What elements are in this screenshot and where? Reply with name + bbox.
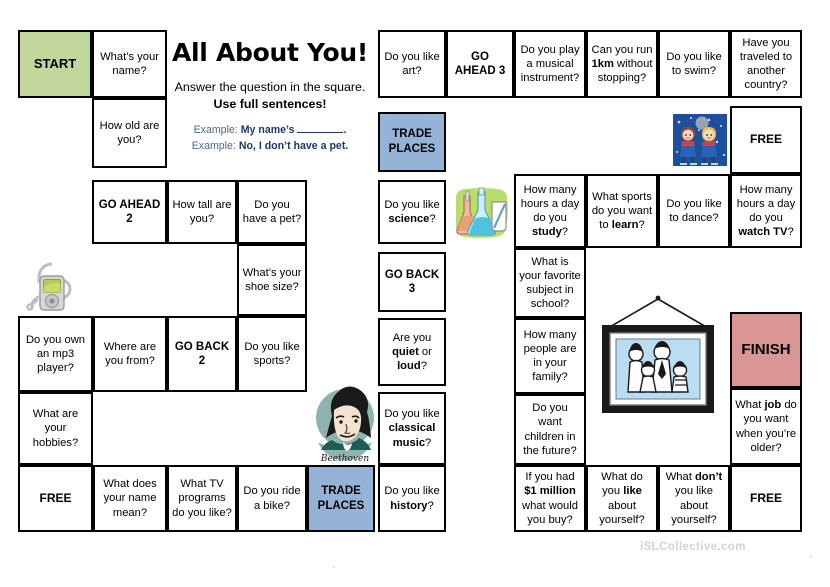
cell-children-in-future[interactable]: Do you want children in the future? (514, 394, 586, 465)
cell-like-to-swim[interactable]: Do you like to swim? (658, 30, 730, 98)
cell-one-million[interactable]: If you had $1 million what would you buy… (514, 465, 586, 532)
cell-like-to-dance[interactable]: Do you like to dance? (658, 174, 730, 248)
cell-quiet-or-loud[interactable]: Are you quiet or loud? (378, 318, 446, 386)
cell-favorite-subject[interactable]: What is your favorite subject in school? (514, 248, 586, 318)
ice-skating-children-image (669, 110, 731, 172)
mp3-player-icon (22, 254, 84, 316)
page-title: All About You! (172, 38, 368, 67)
cell-do-you-like-sports[interactable]: Do you like sports? (237, 316, 307, 392)
svg-text:Beethoven: Beethoven (320, 454, 370, 464)
site-watermark: iSLCollective.com (640, 541, 746, 553)
cell-trade-places-bottom[interactable]: TRADE PLACES (307, 465, 375, 532)
cell-classical-music[interactable]: Do you like classical music? (378, 392, 446, 465)
instructions-bold: Use full sentences! (214, 97, 327, 111)
cell-dont-like-about-yourself[interactable]: What don’t you like about yourself? (658, 465, 730, 532)
cell-mp3-player[interactable]: Do you own an mp3 player? (18, 316, 93, 392)
cell-run-1km[interactable]: Can you run 1km without stopping? (586, 30, 658, 98)
cell-free-bottom-left[interactable]: FREE (18, 465, 93, 532)
cell-whats-your-name[interactable]: What’s your name? (92, 30, 167, 98)
cell-free-bottom-right[interactable]: FREE (730, 465, 802, 532)
cell-what-job[interactable]: What job do you want when you’re older? (730, 388, 802, 465)
family-photo-frame-image (592, 292, 724, 420)
cell-hobbies[interactable]: What are your hobbies? (18, 392, 93, 465)
cell-start[interactable]: START (18, 30, 92, 98)
watermark-dot-2 (333, 566, 335, 568)
cell-sports-to-learn[interactable]: What sports do you want to learn? (586, 174, 658, 248)
example-line-2: Example: No, I don’t have a pet. (170, 139, 370, 154)
cell-do-you-like-science[interactable]: Do you like science? (378, 180, 446, 244)
beethoven-portrait: Beethoven (312, 382, 378, 464)
cell-how-old-are-you[interactable]: How old are you? (92, 98, 167, 168)
cell-name-meaning[interactable]: What does your name mean? (93, 465, 167, 532)
watermark-dot (810, 556, 812, 558)
fill-in-blank (297, 123, 343, 133)
example-line-1: Example: My name’s . (170, 123, 370, 138)
cell-trade-places-top[interactable]: TRADE PLACES (378, 112, 446, 172)
example-1-end: . (343, 124, 346, 136)
cell-hours-study[interactable]: How many hours a day do you study? (514, 174, 586, 248)
cell-how-tall-are-you[interactable]: How tall are you? (167, 180, 237, 244)
cell-do-you-like-history[interactable]: Do you like history? (378, 465, 446, 532)
examples-block: Example: My name’s . Example: No, I don’… (170, 123, 370, 154)
cell-finish[interactable]: FINISH (730, 312, 802, 388)
cell-go-ahead-2[interactable]: GO AHEAD 2 (92, 180, 167, 244)
cell-do-you-like-art[interactable]: Do you like art? (378, 30, 446, 98)
instructions-plain: Answer the question in the square. (175, 80, 366, 94)
cell-go-back-3[interactable]: GO BACK 3 (378, 252, 446, 312)
example-2-body: No, I don’t have a pet. (239, 140, 348, 152)
cell-go-ahead-3[interactable]: GO AHEAD 3 (446, 30, 514, 98)
title-block: All About You! Answer the question in th… (167, 30, 373, 178)
science-flasks-icon (450, 186, 510, 242)
instructions: Answer the question in the square. Use f… (172, 79, 368, 112)
example-1-body: My name’s (241, 124, 295, 136)
cell-free-right-top[interactable]: FREE (730, 106, 802, 174)
example-1-label: Example: (194, 124, 241, 136)
cell-where-are-you-from[interactable]: Where are you from? (93, 316, 167, 392)
cell-ride-a-bike[interactable]: Do you ride a bike? (237, 465, 307, 532)
cell-like-about-yourself[interactable]: What do you like about yourself? (586, 465, 658, 532)
board-game-worksheet: All About You! Answer the question in th… (0, 0, 830, 587)
cell-shoe-size[interactable]: What’s your shoe size? (237, 244, 307, 316)
cell-musical-instrument[interactable]: Do you play a musical instrument? (514, 30, 586, 98)
cell-tv-programs[interactable]: What TV programs do you like? (167, 465, 237, 532)
cell-go-back-2[interactable]: GO BACK 2 (167, 316, 237, 392)
example-2-label: Example: (192, 140, 239, 152)
cell-hours-watch-tv[interactable]: How many hours a day do you watch TV? (730, 174, 802, 248)
cell-traveled-abroad[interactable]: Have you traveled to another country? (730, 30, 802, 98)
cell-family-size[interactable]: How many people are in your family? (514, 318, 586, 394)
cell-do-you-have-a-pet[interactable]: Do you have a pet? (237, 180, 307, 244)
